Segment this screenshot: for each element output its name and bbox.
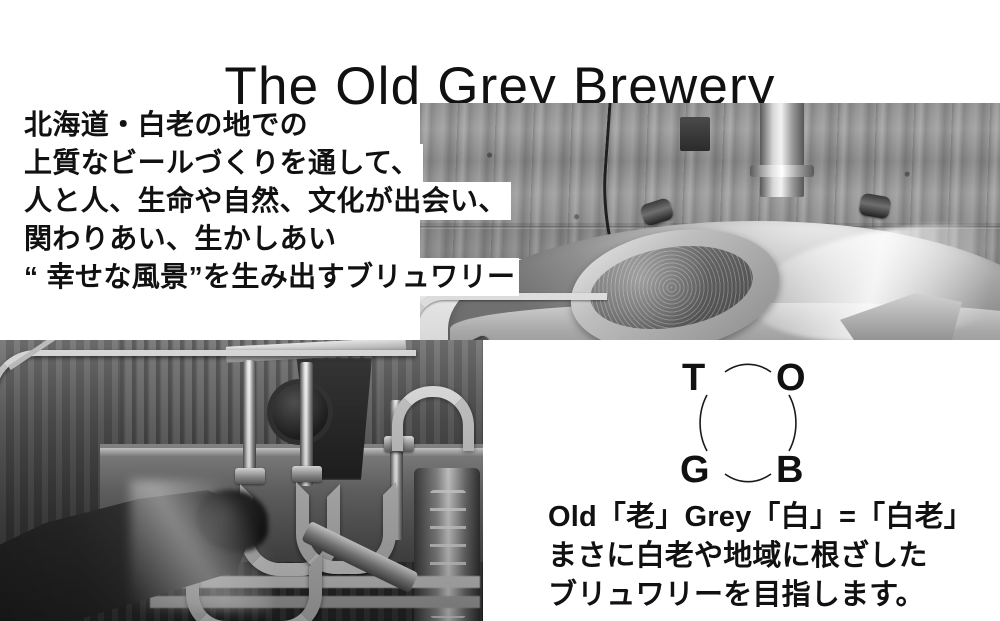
- page-root: The Old Grey Brewery: [0, 0, 1000, 621]
- logo-arc-bottom: [725, 474, 771, 482]
- tagline-copy: Old「老」Grey「白」=「白老」 まさに白老や地域に根ざした ブリュワリーを…: [548, 498, 973, 615]
- intro-line-2: 上質なビールづくりを通して、: [24, 144, 423, 182]
- kettle-chimney: [760, 103, 804, 197]
- tagline-line-3: ブリュワリーを目指します。: [548, 576, 973, 615]
- manway-sight-glass: [584, 235, 758, 340]
- logo-letter-bottom-right: B: [776, 449, 803, 488]
- kettle-chimney-band: [750, 165, 814, 177]
- intro-line-4: 関わりあい、生かしあい: [24, 220, 340, 258]
- logo-arc-left: [700, 395, 707, 451]
- logo-letter-bottom-left: G: [680, 449, 710, 488]
- motion-blur-streak: [130, 480, 270, 610]
- logo-arc-top: [725, 364, 771, 372]
- logo-arc-right: [789, 395, 796, 451]
- logo-letter-top-right: O: [776, 358, 806, 399]
- intro-copy: 北海道・白老の地での 上質なビールづくりを通して、 人と人、生命や自然、文化が出…: [24, 106, 519, 296]
- togb-logo: T O G B: [668, 358, 828, 488]
- tagline-line-2: まさに白老や地域に根ざした: [548, 537, 973, 576]
- platform-railing: [420, 293, 607, 340]
- photo-brewery-pipes: [0, 340, 483, 621]
- intro-line-5: “ 幸せな風景”を生み出すブリュワリー: [24, 258, 519, 296]
- intro-line-1: 北海道・白老の地での: [24, 106, 312, 144]
- intro-line-3: 人と人、生命や自然、文化が出会い、: [24, 182, 511, 220]
- tagline-line-1: Old「老」Grey「白」=「白老」: [548, 498, 973, 537]
- logo-letter-top-left: T: [682, 358, 705, 399]
